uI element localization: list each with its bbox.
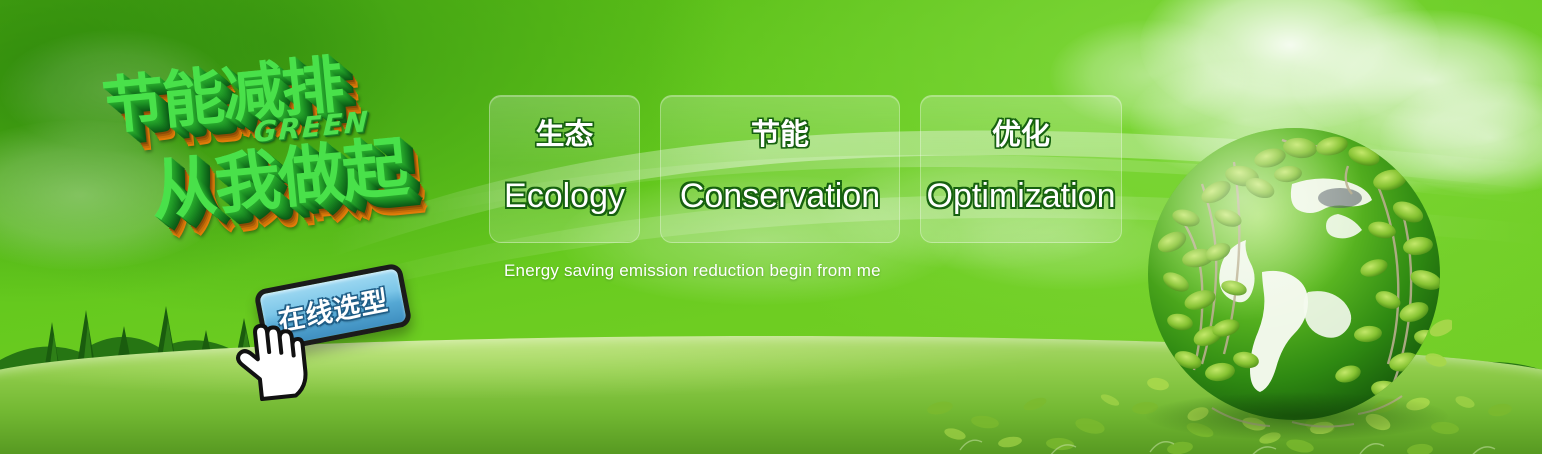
eco-promo-banner: 节能减排 GREEN 从我做起 生态 Ecology 节能 Conservati… bbox=[0, 0, 1542, 454]
feature-label-en: Conservation bbox=[680, 179, 880, 213]
feature-label-en: Optimization bbox=[927, 179, 1116, 213]
feature-label-cn: 生态 bbox=[535, 120, 593, 149]
main-title: 节能减排 GREEN 从我做起 bbox=[86, 19, 506, 286]
online-selection-button-label: 在线选型 bbox=[275, 278, 390, 338]
feature-label-en: Ecology bbox=[504, 179, 625, 213]
feature-box-optimization[interactable]: 优化 Optimization bbox=[920, 95, 1122, 243]
globe-shadow bbox=[1146, 392, 1448, 440]
globe-graphic bbox=[1142, 122, 1452, 434]
feature-label-cn: 优化 bbox=[992, 120, 1050, 149]
feature-box-conservation[interactable]: 节能 Conservation bbox=[660, 95, 900, 243]
feature-label-cn: 节能 bbox=[751, 120, 809, 149]
feature-box-ecology[interactable]: 生态 Ecology bbox=[489, 95, 640, 243]
feature-box-list: 生态 Ecology 节能 Conservation 优化 Optimizati… bbox=[489, 95, 1122, 243]
tagline-text: Energy saving emission reduction begin f… bbox=[504, 261, 881, 281]
leafy-earth-globe-icon bbox=[1142, 122, 1452, 434]
